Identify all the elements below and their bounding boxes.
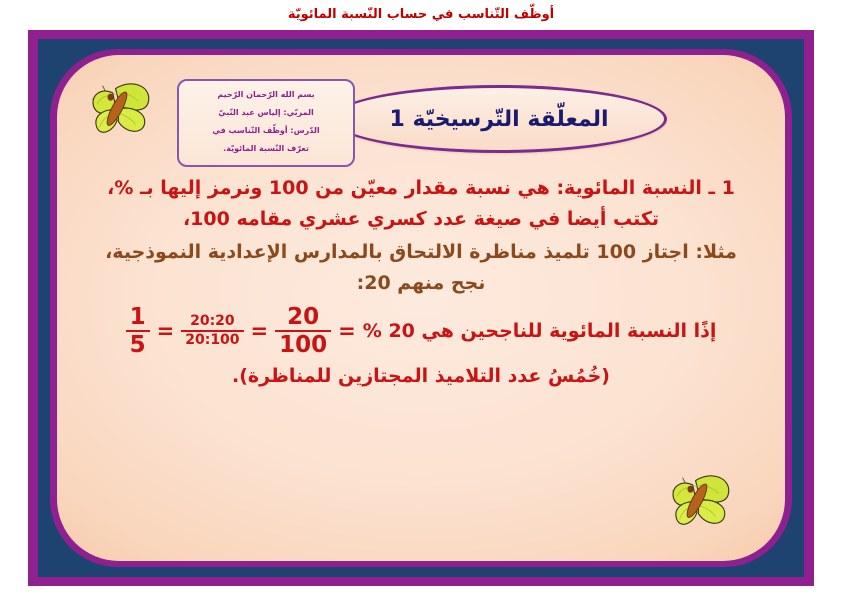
info-line-lesson: الدّرس: أوظّف التّناسب في — [187, 122, 345, 140]
example-paragraph: مثلا: اجتاز 100 تلميذ مناظرة الالتحاق با… — [91, 237, 751, 299]
lesson-info-box: بسم الله الرّحمان الرّحيم المربّي: إلياس… — [177, 79, 355, 167]
poster-title-oval: المعلّقة التّرسيخيّة 1 — [331, 85, 667, 153]
equation-operator-2: = — [251, 319, 269, 343]
info-line-lesson-cont: تعرّف النّسبة المائويّة. — [187, 140, 345, 158]
fraction-numerator: 20:20 — [186, 314, 239, 329]
poster-title-text: المعلّقة التّرسيخيّة 1 — [389, 107, 608, 132]
equation-lead-text: إذًا النسبة المائوية للناجحين هي 20 % — [363, 320, 717, 342]
slide-body: 1 ـ النسبة المائوية: هي نسبة مقدار معيّن… — [91, 173, 751, 387]
slide-content: المعلّقة التّرسيخيّة 1 بسم الله الرّحمان… — [57, 55, 785, 561]
page-title: أوظّف التّناسب في حساب النّسبة المائويّة — [0, 0, 842, 30]
fraction-numerator: 1 — [126, 305, 150, 329]
butterfly-icon — [661, 469, 733, 531]
closing-paragraph: (خُمُسُ عدد التلاميذ المجتازين للمناظرة)… — [91, 365, 751, 387]
fraction-denominator: 20:100 — [181, 333, 243, 348]
equation-operator-1: = — [338, 319, 356, 343]
fraction-numerator: 20 — [283, 305, 323, 329]
fraction-denominator: 5 — [126, 333, 150, 357]
slide-frame-purple-ring: المعلّقة التّرسيخيّة 1 بسم الله الرّحمان… — [50, 49, 792, 567]
fraction-1-over-5: 1 5 — [126, 305, 150, 357]
percentage-equation: إذًا النسبة المائوية للناجحين هي 20 % = … — [91, 305, 751, 357]
slide-frame-navy: المعلّقة التّرسيخيّة 1 بسم الله الرّحمان… — [38, 39, 804, 577]
equation-operator-3: = — [157, 319, 175, 343]
info-line-teacher: المربّي: إلياس عبد النّبيّ — [187, 104, 345, 122]
fraction-2020-over-20100: 20:20 20:100 — [181, 314, 243, 347]
fraction-denominator: 100 — [275, 333, 331, 357]
slide-frame-outer: المعلّقة التّرسيخيّة 1 بسم الله الرّحمان… — [28, 30, 814, 586]
fraction-20-over-100: 20 100 — [275, 305, 331, 357]
info-line-basmala: بسم الله الرّحمان الرّحيم — [187, 86, 345, 104]
slide-header: المعلّقة التّرسيخيّة 1 بسم الله الرّحمان… — [57, 77, 785, 177]
definition-paragraph: 1 ـ النسبة المائوية: هي نسبة مقدار معيّن… — [91, 173, 751, 235]
